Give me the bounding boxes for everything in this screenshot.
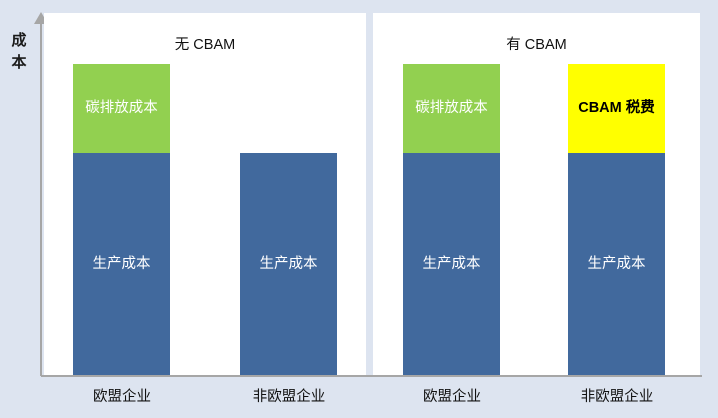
bar-segment-label: 碳排放成本: [85, 101, 158, 116]
bar-segment-cbam-levy[interactable]: CBAM 税费: [568, 64, 665, 153]
bar-segment-production-cost[interactable]: 生产成本: [73, 153, 170, 375]
x-axis-line: [41, 375, 702, 377]
panel-divider: [368, 13, 371, 375]
x-axis-label-with-cbam-noneu: 非欧盟企业: [581, 385, 654, 406]
bar-with-cbam-noneu[interactable]: CBAM 税费 生产成本: [568, 13, 665, 375]
panel-without-cbam: 无 CBAM 碳排放成本 生产成本 生产成本: [44, 13, 366, 375]
y-axis-title: 成 本: [6, 30, 32, 74]
y-axis-title-char-2: 本: [6, 52, 32, 74]
bar-segment-label: 生产成本: [260, 257, 318, 272]
y-axis-line: [40, 22, 42, 376]
bar-segment-label: 生产成本: [588, 257, 646, 272]
x-axis-label-without-cbam-eu: 欧盟企业: [93, 385, 151, 406]
bar-segment-label: 生产成本: [93, 257, 151, 272]
panel-with-cbam: 有 CBAM 碳排放成本 生产成本 CBAM 税费 生产成本: [373, 13, 700, 375]
x-axis-label-with-cbam-eu: 欧盟企业: [423, 385, 481, 406]
y-axis-title-char-1: 成: [6, 30, 32, 52]
bar-with-cbam-eu[interactable]: 碳排放成本 生产成本: [403, 13, 500, 375]
x-axis-label-without-cbam-noneu: 非欧盟企业: [253, 385, 326, 406]
bar-segment-production-cost[interactable]: 生产成本: [240, 153, 337, 375]
bar-segment-label: 碳排放成本: [415, 101, 488, 116]
bar-segment-production-cost[interactable]: 生产成本: [568, 153, 665, 375]
bar-without-cbam-noneu[interactable]: 生产成本: [240, 13, 337, 375]
bar-segment-label: CBAM 税费: [578, 101, 655, 116]
bar-segment-label: 生产成本: [423, 257, 481, 272]
bar-segment-production-cost[interactable]: 生产成本: [403, 153, 500, 375]
bar-without-cbam-eu[interactable]: 碳排放成本 生产成本: [73, 13, 170, 375]
cbam-cost-comparison-chart: 成 本 无 CBAM 碳排放成本 生产成本 生产成本 有 CBAM: [0, 0, 718, 418]
bar-segment-carbon-cost[interactable]: 碳排放成本: [403, 64, 500, 153]
bar-segment-carbon-cost[interactable]: 碳排放成本: [73, 64, 170, 153]
